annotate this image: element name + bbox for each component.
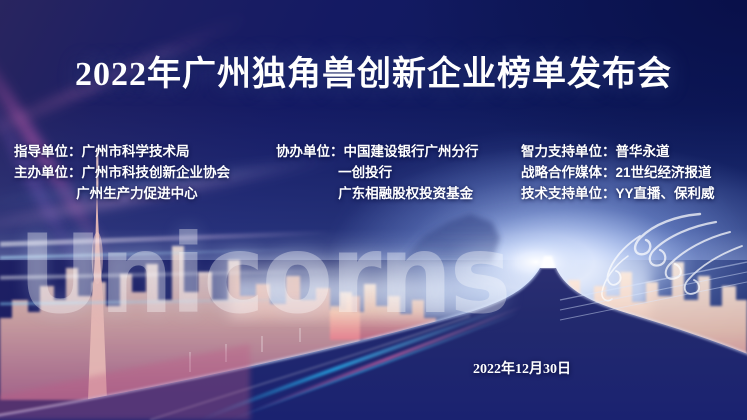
org-line-coorganizer: 协办单位：中国建设银行广州分行 bbox=[276, 141, 521, 162]
organizations-column-1: 指导单位：广州市科学技术局 主办单位：广州市科技创新企业协会 广州生产力促进中心 bbox=[14, 141, 276, 204]
organizations-column-3: 智力支持单位：普华永道 战略合作媒体：21世纪经济报道 技术支持单位：YY直播、… bbox=[521, 141, 715, 204]
org-line-coorganizer-2: 一创投行 bbox=[276, 162, 521, 183]
org-line-guidance: 指导单位：广州市科学技术局 bbox=[14, 141, 276, 162]
poster-content: 2022年广州独角兽创新企业榜单发布会 指导单位：广州市科学技术局 主办单位：广… bbox=[0, 0, 747, 420]
org-line-coorganizer-3: 广东相融股权投资基金 bbox=[276, 183, 521, 204]
org-line-host: 主办单位：广州市科技创新企业协会 bbox=[14, 162, 276, 183]
event-poster: Unicorns 2022年广州独角兽创新企业榜单发布会 指导单位：广州市科学技… bbox=[0, 0, 747, 420]
org-line-technical-support: 技术支持单位：YY直播、保利威 bbox=[521, 183, 715, 204]
organizations-block: 指导单位：广州市科学技术局 主办单位：广州市科技创新企业协会 广州生产力促进中心… bbox=[0, 141, 747, 204]
page-title: 2022年广州独角兽创新企业榜单发布会 bbox=[0, 46, 747, 95]
org-line-strategic-media: 战略合作媒体：21世纪经济报道 bbox=[521, 162, 715, 183]
organizations-column-2: 协办单位：中国建设银行广州分行 一创投行 广东相融股权投资基金 bbox=[276, 141, 521, 204]
org-line-intellectual-support: 智力支持单位：普华永道 bbox=[521, 141, 715, 162]
event-date: 2022年12月30日 bbox=[473, 358, 571, 378]
org-line-host-2: 广州生产力促进中心 bbox=[14, 183, 276, 204]
